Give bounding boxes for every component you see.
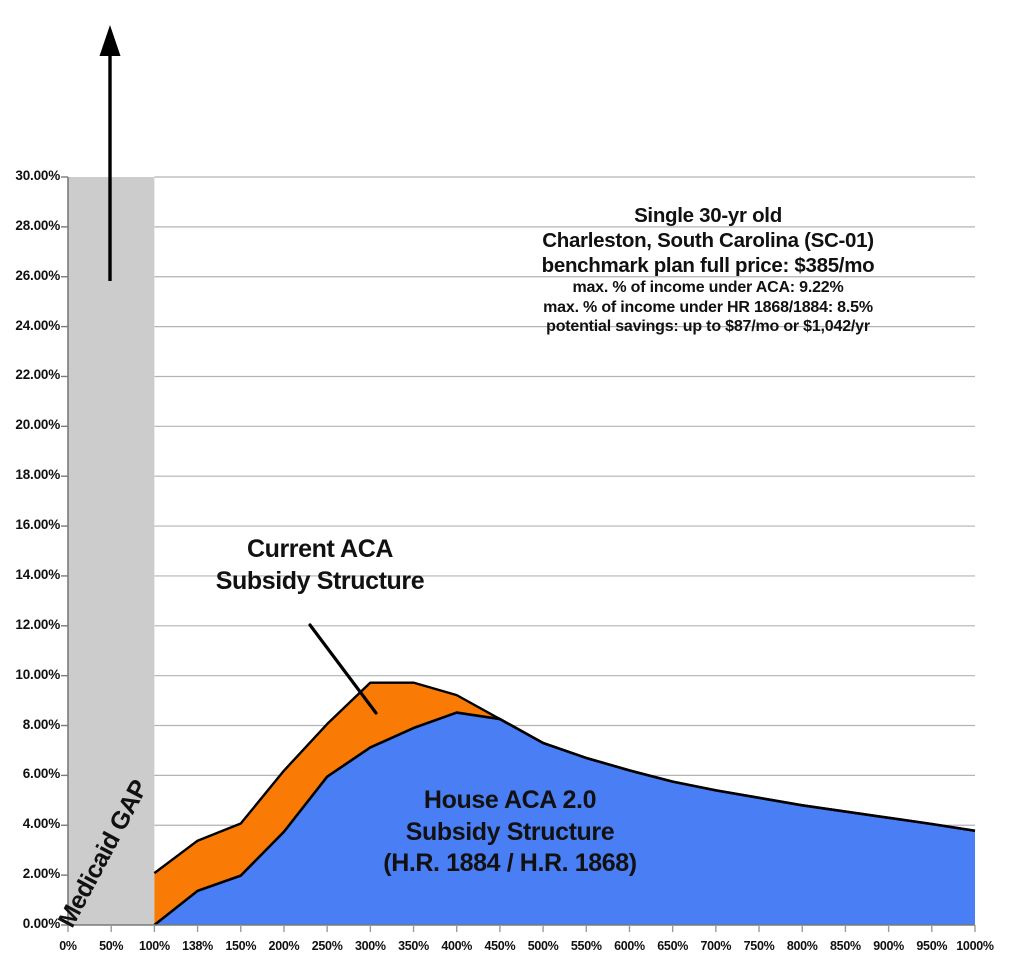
info-line-2: Charleston, South Carolina (SC-01): [452, 228, 964, 253]
callout-house-line1: House ACA 2.0: [305, 785, 715, 817]
y-axis-tick-label: 12.00%: [0, 617, 60, 632]
y-axis-tick-label: 8.00%: [0, 717, 60, 732]
info-line-5: max. % of income under HR 1868/1884: 8.5…: [452, 298, 964, 318]
leader-line-current-aca: [310, 625, 376, 713]
y-axis-tick-label: 4.00%: [0, 816, 60, 831]
y-axis-tick-label: 30.00%: [0, 168, 60, 183]
y-axis-tick-label: 6.00%: [0, 766, 60, 781]
callout-current-aca: Current ACA Subsidy Structure: [150, 533, 490, 597]
y-axis-tick-label: 26.00%: [0, 268, 60, 283]
info-line-1: Single 30-yr old: [452, 203, 964, 228]
x-axis-ticks: [68, 925, 975, 932]
y-axis-tick-label: 20.00%: [0, 417, 60, 432]
y-axis-tick-label: 10.00%: [0, 667, 60, 682]
y-axis-tick-label: 28.00%: [0, 218, 60, 233]
info-line-3: benchmark plan full price: $385/mo: [452, 253, 964, 278]
y-axis-tick-label: 22.00%: [0, 367, 60, 382]
callout-house-line2: Subsidy Structure: [305, 817, 715, 849]
y-axis-ticks: [61, 177, 68, 925]
info-line-4: max. % of income under ACA: 9.22%: [452, 278, 964, 298]
y-axis-tick-label: 14.00%: [0, 567, 60, 582]
callout-house-line3: (H.R. 1884 / H.R. 1868): [305, 848, 715, 880]
info-annotation-box: Single 30-yr old Charleston, South Carol…: [452, 203, 964, 337]
callout-house-aca-20: House ACA 2.0 Subsidy Structure (H.R. 18…: [305, 785, 715, 880]
chart-canvas: 0.00%2.00%4.00%6.00%8.00%10.00%12.00%14.…: [0, 0, 1009, 966]
info-line-6: potential savings: up to $87/mo or $1,04…: [452, 317, 964, 337]
y-axis-tick-label: 18.00%: [0, 467, 60, 482]
y-axis-tick-label: 24.00%: [0, 318, 60, 333]
callout-current-aca-line1: Current ACA: [150, 533, 490, 565]
x-axis-tick-label: 1000%: [946, 939, 1004, 953]
y-axis-tick-label: 16.00%: [0, 517, 60, 532]
callout-current-aca-line2: Subsidy Structure: [150, 565, 490, 597]
